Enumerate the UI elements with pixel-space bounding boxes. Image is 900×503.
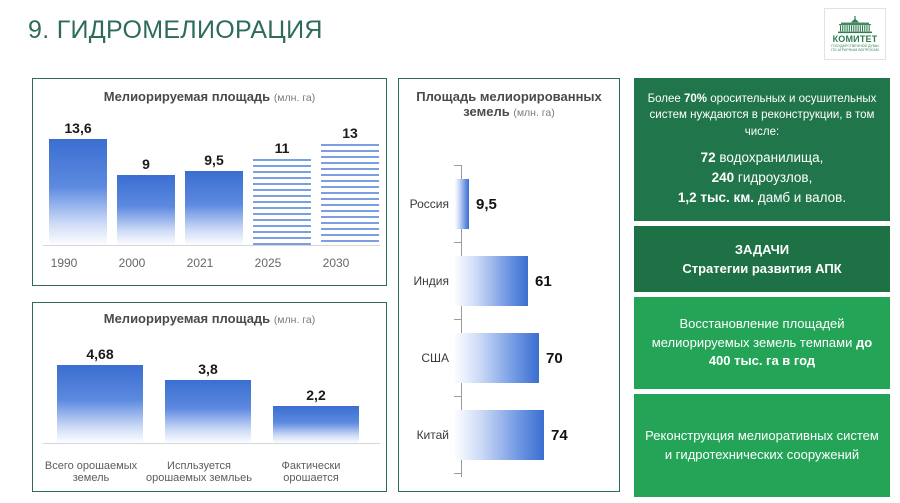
bar-value-label: 61: [535, 274, 552, 289]
chart-melioration-area-years: Мелиорируемая площадь (млн. га) 13,6 9 9…: [32, 78, 387, 286]
chart-b-plot: 4,68 3,8 2,2: [43, 333, 378, 443]
axis-tick: [454, 473, 462, 474]
slide-root: 9. ГИДРОМЕЛИОРАЦИЯ КОМИТЕТ: [0, 0, 900, 503]
y-tick-label: Россия: [399, 197, 455, 211]
bar-group: 13: [321, 115, 379, 245]
bar-group: 9: [117, 115, 175, 245]
panel-task-reconstruction[interactable]: Реконструкция мелиоративных систем и гид…: [634, 394, 890, 497]
bar-value-label: 74: [551, 428, 568, 443]
bar-group: США 70: [399, 327, 619, 389]
bar: [455, 410, 544, 460]
x-tick-label: Фактически орошается: [255, 460, 367, 485]
x-tick-label: Всего орошаемых земель: [35, 460, 147, 485]
bar-value-label: 9: [142, 157, 150, 171]
chart-c-title: Площадь мелиорированных земель (млн. га): [399, 89, 619, 120]
bar-group: 11: [253, 115, 311, 245]
bar-group: 13,6: [49, 115, 107, 245]
bar-value-label: 11: [275, 141, 290, 155]
logo-subtitle-2: ПО АГРАРНЫМ ВОПРОСАМ: [831, 48, 878, 52]
bar: [57, 365, 143, 443]
panel-reconstruction-stats: Более 70% оросительных и осушительных си…: [634, 78, 890, 221]
bar-value-label: 13: [342, 126, 358, 140]
task-2-text: Реконструкция мелиоративных систем и гид…: [643, 427, 881, 465]
logo-name: КОМИТЕТ: [833, 35, 878, 44]
bar-group: 3,8: [165, 333, 251, 443]
chart-c-plot: Россия 9,5 Индия 61 США 70: [399, 165, 619, 477]
page-title: 9. ГИДРОМЕЛИОРАЦИЯ: [28, 16, 323, 45]
tasks-title: ЗАДАЧИ: [735, 242, 789, 257]
bar-value-label: 9,5: [476, 197, 497, 212]
x-tick-label: 2030: [301, 257, 371, 271]
chart-a-plot: 13,6 9 9,5 11 13: [47, 115, 376, 245]
bar: [455, 333, 539, 383]
bar-group: Индия 61: [399, 250, 619, 312]
x-tick-label: Испльзуется орошаемых земльеь: [143, 460, 255, 485]
bar-projected: [253, 159, 311, 245]
x-tick-label: 2025: [233, 257, 303, 271]
tasks-subtitle: Стратегии развития АПК: [682, 261, 841, 276]
bar-projected: [321, 144, 379, 245]
y-tick-label: Китай: [399, 428, 455, 442]
bar-value-label: 70: [546, 351, 563, 366]
bar-group: Китай 74: [399, 404, 619, 466]
panel-tasks-header: ЗАДАЧИ Стратегии развития АПК: [634, 226, 890, 292]
bar-value-label: 13,6: [64, 121, 91, 135]
bar-value-label: 2,2: [306, 388, 325, 402]
y-tick-label: США: [399, 351, 455, 365]
x-tick-label: 1990: [29, 257, 99, 271]
bar-value-label: 9,5: [204, 153, 223, 167]
chart-meliorated-land-by-country: Площадь мелиорированных земель (млн. га)…: [398, 78, 620, 492]
chart-irrigated-land-breakdown: Мелиорируемая площадь (млн. га) 4,68 3,8…: [32, 302, 387, 492]
bar: [273, 406, 359, 443]
task-1-text: Восстановление площадей мелиорируемых зе…: [643, 315, 881, 372]
bar: [455, 256, 528, 306]
bar-value-label: 4,68: [86, 347, 113, 361]
x-tick-label: 2000: [97, 257, 167, 271]
chart-a-axis: [43, 245, 380, 246]
stats-items: 72 водохранилища, 240 гидроузлов, 1,2 ты…: [678, 148, 846, 209]
bar: [455, 179, 469, 229]
chart-b-title: Мелиорируемая площадь (млн. га): [33, 311, 386, 326]
stats-headline: Более 70% оросительных и осушительных си…: [643, 91, 881, 141]
bar-value-label: 3,8: [198, 362, 217, 376]
bar-group: 4,68: [57, 333, 143, 443]
bar: [185, 171, 243, 245]
government-building-icon: [835, 16, 875, 34]
bar: [117, 175, 175, 245]
committee-logo: КОМИТЕТ ГОСУДАРСТВЕННОЙ ДУМЫ ПО АГРАРНЫМ…: [824, 8, 886, 60]
axis-tick: [454, 319, 462, 320]
x-tick-label: 2021: [165, 257, 235, 271]
chart-b-axis: [43, 443, 380, 444]
axis-tick: [454, 242, 462, 243]
bar: [49, 139, 107, 245]
bar-group: Россия 9,5: [399, 173, 619, 235]
panel-task-restore-areas[interactable]: Восстановление площадей мелиорируемых зе…: [634, 297, 890, 389]
chart-a-title: Мелиорируемая площадь (млн. га): [33, 89, 386, 104]
axis-tick: [454, 165, 462, 166]
bar: [165, 380, 251, 443]
axis-tick: [454, 396, 462, 397]
bar-group: 2,2: [273, 333, 359, 443]
y-tick-label: Индия: [399, 274, 455, 288]
bar-group: 9,5: [185, 115, 243, 245]
